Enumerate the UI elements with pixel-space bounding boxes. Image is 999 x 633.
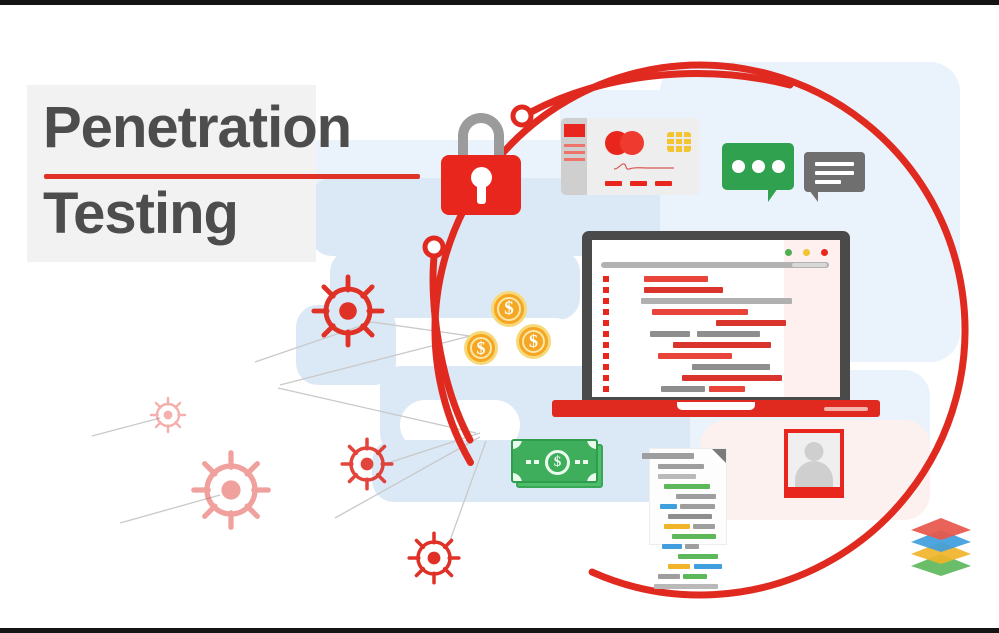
code-gutter-marker: [603, 375, 609, 381]
code-gutter-marker: [603, 386, 609, 392]
network-link: [388, 433, 480, 463]
code-line: [692, 364, 770, 370]
code-line: [650, 331, 690, 337]
code-line: [644, 287, 723, 293]
chat-tail: [768, 188, 778, 202]
card-chip-icon: [667, 132, 691, 152]
avatar-head: [805, 442, 824, 461]
code-gutter-marker: [603, 353, 609, 359]
code-line: [661, 386, 705, 392]
document-line: [654, 584, 718, 589]
code-line: [709, 386, 745, 392]
document-line: [683, 574, 707, 579]
document-line: [658, 574, 680, 579]
card-number-dash: [630, 181, 647, 186]
banknote-corner: [587, 439, 598, 449]
chat-bubble-gray-icon: [804, 152, 865, 192]
laptop-code-icon: [552, 231, 880, 424]
banknote-dash: [526, 460, 531, 464]
laptop-screen: [592, 240, 840, 397]
virus-node-icon: [194, 453, 268, 527]
avatar-shoulders: [795, 461, 833, 487]
document-line: [693, 524, 715, 529]
code-line: [697, 331, 760, 337]
poster-canvas: Penetration Testing: [0, 0, 999, 633]
card-signature: [613, 162, 675, 172]
document-line: [672, 534, 716, 539]
id-photo-bar: [788, 487, 840, 494]
virus-node-icon: [342, 439, 392, 489]
code-line: [673, 342, 771, 348]
document-icon: [650, 449, 726, 544]
banknote-corner: [511, 473, 522, 483]
title-underline: [44, 174, 420, 179]
chat-bubble-green-icon: [722, 143, 794, 190]
card-band-block: [564, 124, 585, 137]
network-link: [255, 322, 372, 362]
laptop-trackpad-notch: [677, 402, 755, 410]
banknote-dollar-symbol: $: [545, 450, 570, 475]
padlock-icon: [441, 113, 521, 215]
page-title-line-1: Penetration: [43, 99, 351, 157]
code-gutter-marker: [603, 331, 609, 337]
card-band-stripe: [564, 158, 585, 161]
chat-text-line: [815, 180, 841, 184]
document-line: [660, 504, 677, 509]
card-band-stripe: [564, 144, 585, 147]
dollar-banknote-icon: $: [511, 439, 603, 488]
card-logo-circle-b: [620, 131, 644, 155]
card-number-dash: [655, 181, 672, 186]
code-line: [682, 375, 782, 381]
banknote-corner: [511, 439, 522, 449]
padlock-keyhole-stem: [477, 182, 486, 204]
browser-url-text: [792, 263, 827, 267]
document-line: [680, 504, 715, 509]
code-gutter-marker: [603, 320, 609, 326]
code-gutter-marker: [603, 276, 609, 282]
code-gutter-marker: [603, 342, 609, 348]
code-line: [658, 353, 732, 359]
document-header-line: [642, 453, 694, 459]
banknote-dash: [583, 460, 588, 464]
window-dot-green: [785, 249, 792, 256]
code-line: [641, 298, 792, 304]
document-line: [658, 474, 696, 479]
user-id-photo-icon: [784, 429, 844, 498]
document-line: [662, 544, 682, 549]
document-line: [668, 514, 712, 519]
chat-text-line: [815, 171, 854, 175]
network-link: [92, 418, 160, 436]
window-dot-yellow: [803, 249, 810, 256]
chat-tail: [809, 190, 818, 202]
banknote-corner: [587, 473, 598, 483]
chat-text-line: [815, 162, 854, 166]
virus-node-icon: [409, 533, 459, 583]
document-line: [694, 564, 722, 569]
credit-card-icon: [561, 118, 700, 195]
chat-dot: [732, 160, 745, 173]
code-gutter-marker: [603, 364, 609, 370]
letterbox-top: [0, 0, 999, 5]
document-line: [676, 494, 716, 499]
stacked-layers-icon: [905, 516, 977, 578]
card-band-stripe: [564, 151, 585, 154]
virus-node-icon: [151, 398, 185, 432]
document-line: [685, 544, 699, 549]
document-line: [668, 564, 690, 569]
card-number-dash: [605, 181, 622, 186]
network-link: [372, 322, 470, 336]
letterbox-bottom: [0, 628, 999, 633]
code-line: [652, 309, 748, 315]
code-gutter-marker: [603, 287, 609, 293]
chat-dot: [752, 160, 765, 173]
banknote-front: $: [511, 439, 598, 483]
laptop-lid: [582, 231, 850, 404]
layer-slab: [911, 518, 971, 540]
code-line: [644, 276, 708, 282]
code-gutter-marker: [603, 298, 609, 304]
network-link: [448, 441, 486, 546]
page-title-line-2: Testing: [43, 185, 238, 243]
document-fold-corner: [712, 449, 726, 463]
code-line: [716, 320, 786, 326]
code-gutter-marker: [603, 309, 609, 315]
id-photo-inner: [788, 433, 840, 487]
banknote-dash: [575, 460, 580, 464]
document-line: [678, 554, 718, 559]
document-line: [664, 484, 710, 489]
network-link: [278, 388, 476, 433]
laptop-base-glint: [824, 407, 868, 411]
document-line: [664, 524, 690, 529]
banknote-dash: [534, 460, 539, 464]
chat-dot: [772, 160, 785, 173]
virus-node-icon: [314, 277, 382, 345]
window-dot-red: [821, 249, 828, 256]
document-line: [658, 464, 704, 469]
